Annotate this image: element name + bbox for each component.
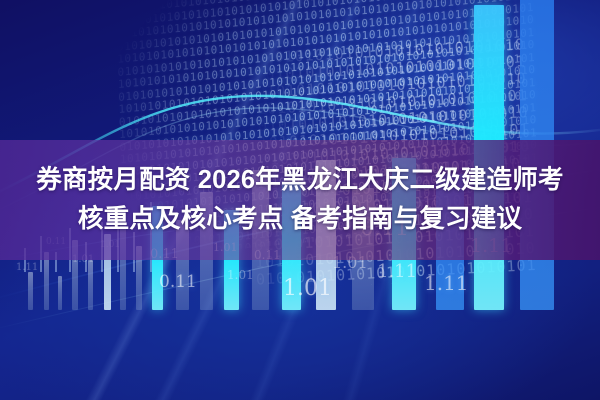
decimal-value-label: 1.11 bbox=[16, 262, 38, 273]
chart-bar bbox=[58, 276, 62, 310]
decimal-value-label: 1.11 bbox=[424, 271, 469, 295]
chart-bar bbox=[44, 252, 49, 310]
title-block: 券商按月配资 2026年黑龙江大庆二级建造师考 核重点及核心考点 备考指南与复习… bbox=[0, 140, 600, 260]
decimal-value-label: 0.11 bbox=[159, 272, 197, 292]
decimal-value-label: 1.01 bbox=[283, 276, 332, 301]
decimal-value-label: 1.01 bbox=[227, 268, 254, 282]
title-line-2: 核重点及核心考点 备考指南与复习建议 bbox=[78, 201, 522, 238]
title-line-1: 券商按月配资 2026年黑龙江大庆二级建造师考 bbox=[36, 162, 563, 199]
banner-image: 1010101010101010101010101010101010101010… bbox=[0, 0, 600, 400]
chart-bar bbox=[88, 260, 93, 310]
decimal-value-label: 1.11 bbox=[377, 261, 417, 282]
chart-bar bbox=[28, 272, 33, 310]
